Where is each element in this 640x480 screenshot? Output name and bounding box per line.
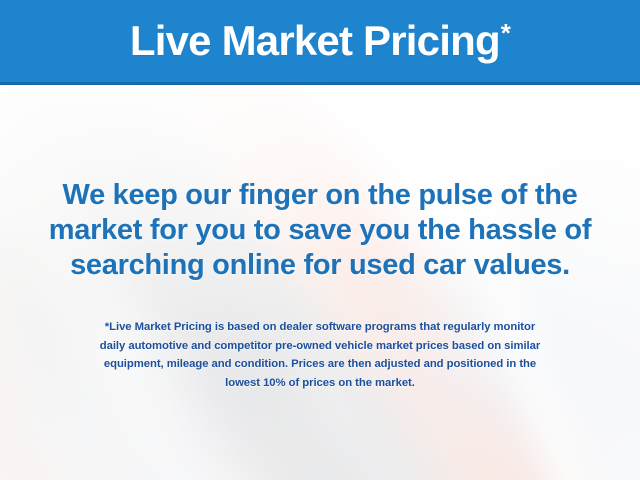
headline-line-3: searching online for used car values. bbox=[28, 248, 612, 283]
disclaimer-line-4: lowest 10% of prices on the market. bbox=[25, 374, 615, 393]
disclaimer-line-3: equipment, mileage and condition. Prices… bbox=[25, 355, 615, 374]
headline-line-2: market for you to save you the hassle of bbox=[28, 213, 612, 248]
headline: We keep our finger on the pulse of the m… bbox=[28, 178, 612, 283]
page-title-text: Live Market Pricing bbox=[130, 17, 500, 65]
page-title: Live Market Pricing* bbox=[0, 0, 640, 82]
disclaimer-line-2: daily automotive and competitor pre-owne… bbox=[25, 337, 615, 356]
disclaimer-line-1: *Live Market Pricing is based on dealer … bbox=[25, 318, 615, 337]
header-band: Live Market Pricing* bbox=[0, 0, 640, 85]
page-title-asterisk: * bbox=[501, 20, 510, 46]
headline-line-1: We keep our finger on the pulse of the bbox=[28, 178, 612, 213]
live-market-pricing-banner: Live Market Pricing* We keep our finger … bbox=[0, 0, 640, 480]
disclaimer: *Live Market Pricing is based on dealer … bbox=[25, 318, 615, 392]
